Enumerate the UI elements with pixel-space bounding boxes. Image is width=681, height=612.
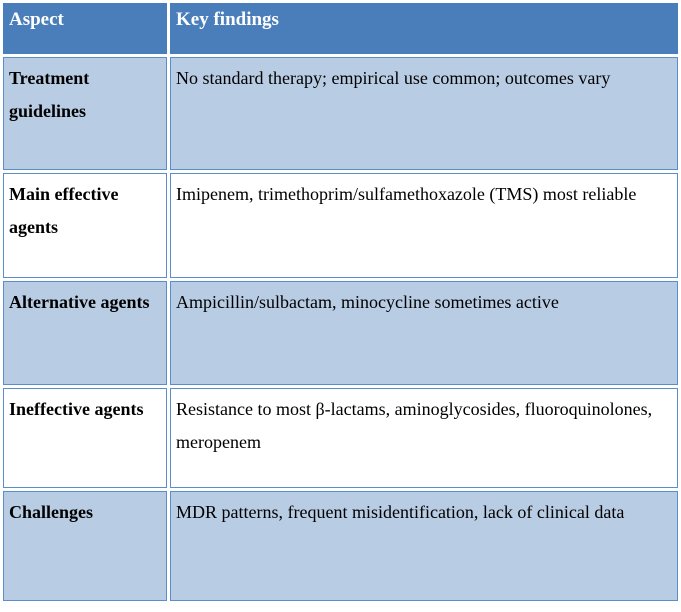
column-header-key-findings: Key findings: [170, 3, 678, 54]
column-header-aspect: Aspect: [3, 3, 167, 54]
summary-table: Aspect Key findings Treatment guidelines…: [0, 0, 681, 604]
table-row: Alternative agents Ampicillin/sulbactam,…: [3, 281, 678, 385]
table-row: Treatment guidelines No standard therapy…: [3, 57, 678, 170]
cell-aspect: Main effective agents: [3, 173, 167, 278]
cell-aspect: Challenges: [3, 491, 167, 601]
cell-aspect: Treatment guidelines: [3, 57, 167, 170]
cell-key-findings: No standard therapy; empirical use commo…: [170, 57, 678, 170]
cell-aspect: Ineffective agents: [3, 388, 167, 488]
cell-key-findings: Resistance to most β-lactams, aminoglyco…: [170, 388, 678, 488]
cell-key-findings: Ampicillin/sulbactam, minocycline someti…: [170, 281, 678, 385]
cell-key-findings: MDR patterns, frequent misidentification…: [170, 491, 678, 601]
table-header: Aspect Key findings: [3, 3, 678, 54]
cell-key-findings: Imipenem, trimethoprim/sulfamethoxazole …: [170, 173, 678, 278]
table-row: Main effective agents Imipenem, trimetho…: [3, 173, 678, 278]
table-row: Ineffective agents Resistance to most β-…: [3, 388, 678, 488]
table-body: Treatment guidelines No standard therapy…: [3, 57, 678, 601]
table-row: Challenges MDR patterns, frequent miside…: [3, 491, 678, 601]
cell-aspect: Alternative agents: [3, 281, 167, 385]
table-header-row: Aspect Key findings: [3, 3, 678, 54]
